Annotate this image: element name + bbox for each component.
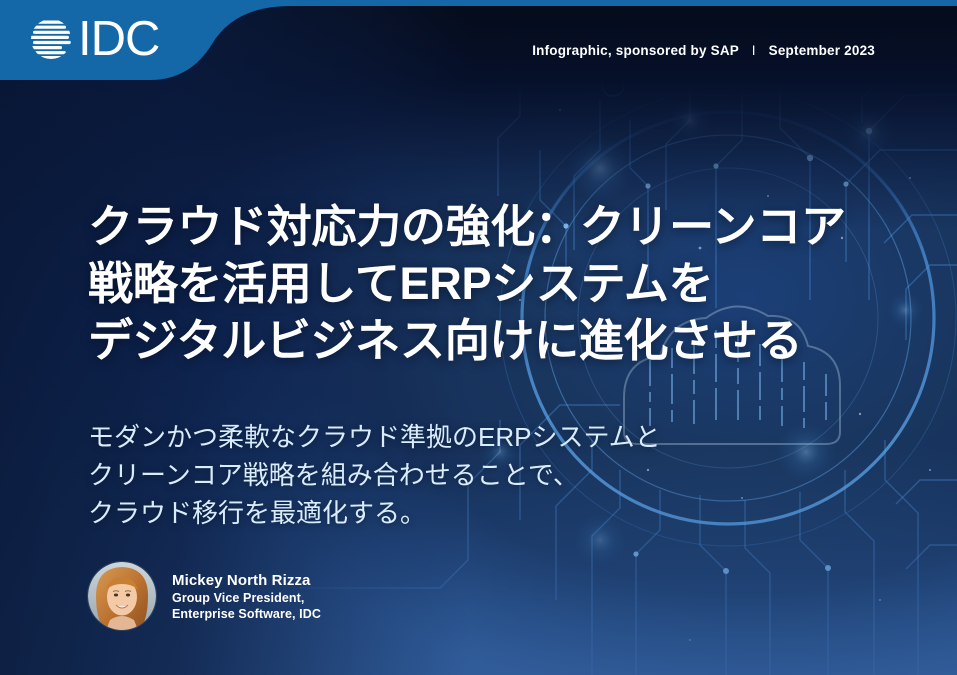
author-portrait-icon: [88, 562, 156, 630]
page-title-line-1: クラウド対応力の強化：クリーンコア: [88, 198, 888, 255]
sponsor-label: Infographic, sponsored by SAP: [532, 43, 739, 58]
page-title-line-2: 戦略を活用してERPシステムを: [88, 255, 888, 312]
page-subtitle: モダンかつ柔軟なクラウド準拠のERPシステムと クリーンコア戦略を組み合わせるこ…: [88, 418, 848, 532]
idc-globe-icon: [28, 16, 74, 62]
page-title: クラウド対応力の強化：クリーンコア 戦略を活用してERPシステムを デジタルビジ…: [88, 198, 888, 369]
header-meta: Infographic, sponsored by SAP I Septembe…: [532, 43, 875, 58]
infographic-cover: IDC Infographic, sponsored by SAP I Sept…: [0, 0, 957, 675]
page-subtitle-line-3: クラウド移行を最適化する。: [88, 494, 848, 532]
author-text: Mickey North Rizza Group Vice President,…: [172, 571, 321, 622]
author-title-line-2: Enterprise Software, IDC: [172, 606, 321, 622]
author-name: Mickey North Rizza: [172, 571, 321, 590]
author-title-line-1: Group Vice President,: [172, 590, 321, 606]
page-title-line-3: デジタルビジネス向けに進化させる: [88, 312, 888, 369]
author-block: Mickey North Rizza Group Vice President,…: [88, 562, 321, 630]
page-subtitle-line-1: モダンかつ柔軟なクラウド準拠のERPシステムと: [88, 418, 848, 456]
idc-logo[interactable]: IDC: [28, 13, 159, 65]
page-subtitle-line-2: クリーンコア戦略を組み合わせることで、: [88, 456, 848, 494]
idc-logo-text: IDC: [78, 15, 159, 64]
avatar: [88, 562, 156, 630]
publish-date: September 2023: [769, 43, 875, 58]
meta-separator: I: [743, 43, 765, 58]
